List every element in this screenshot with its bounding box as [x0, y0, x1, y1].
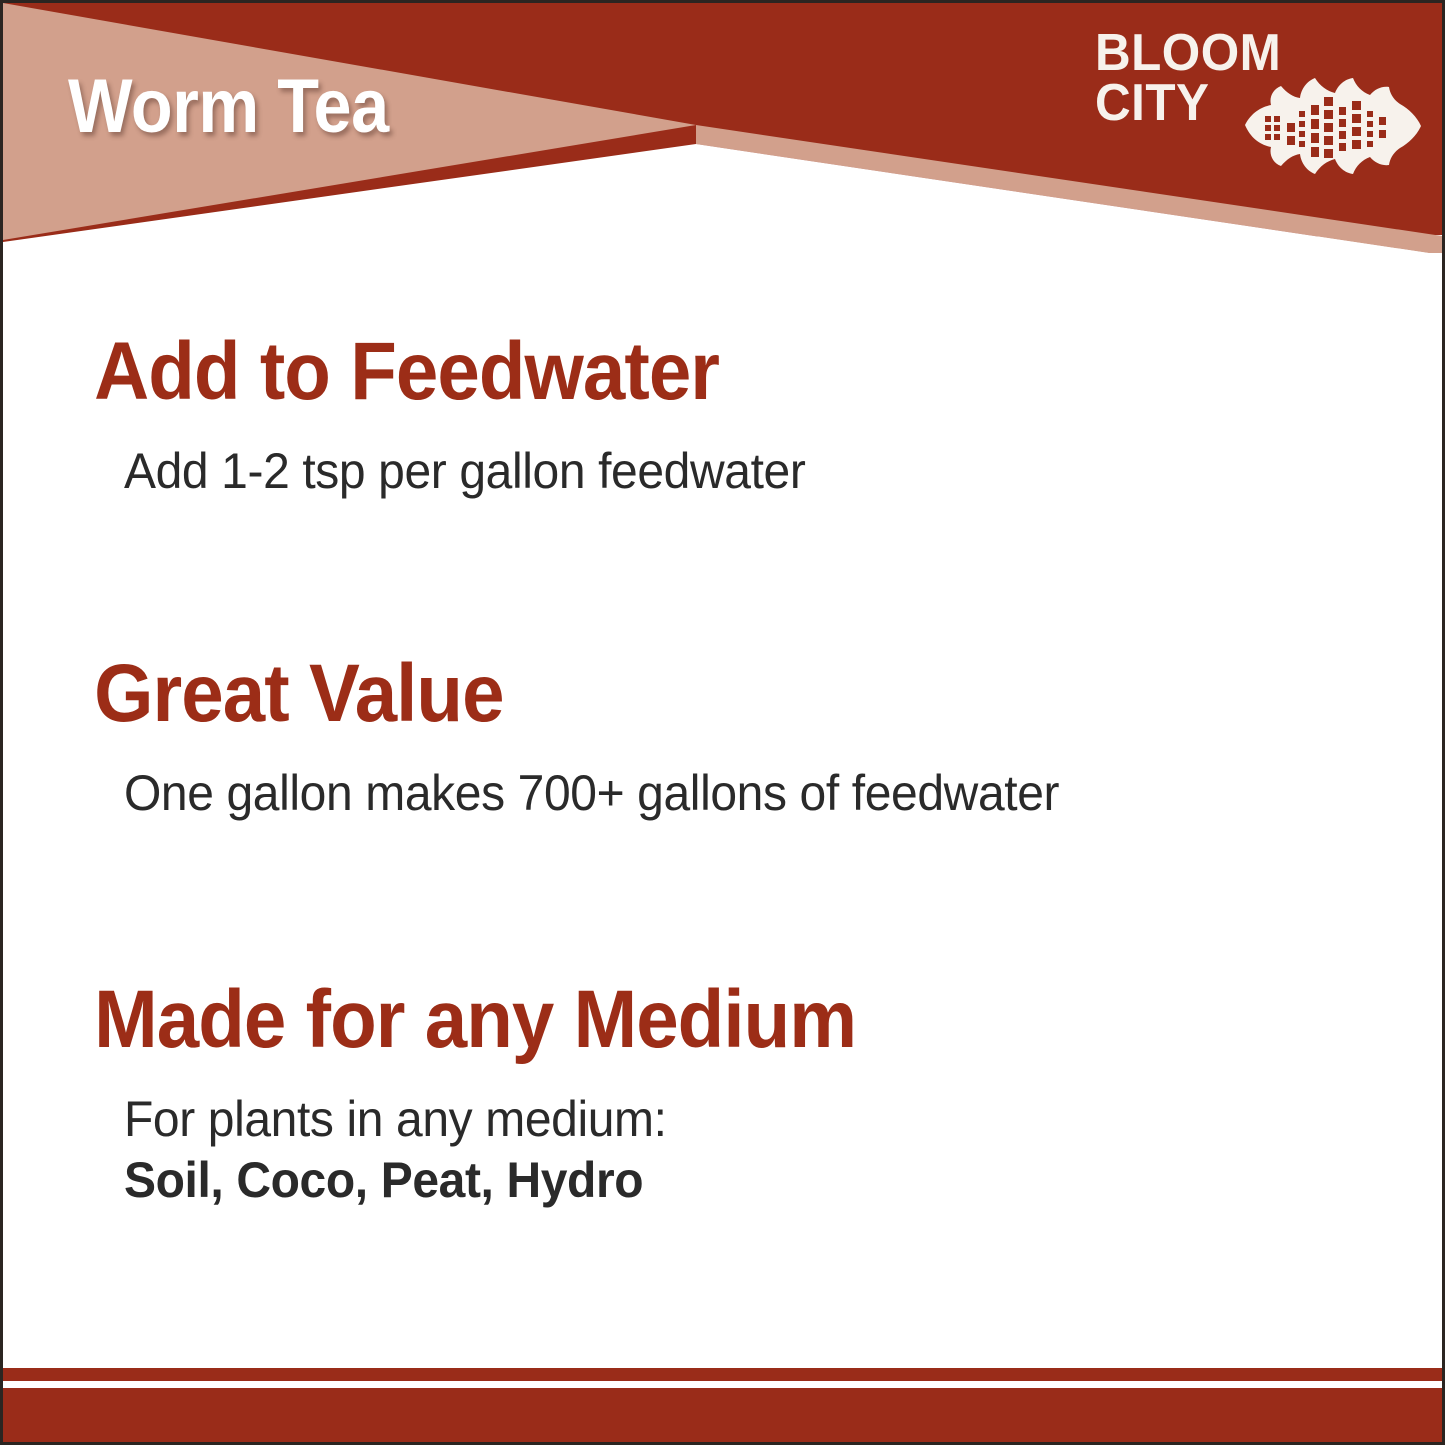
feature-body: Add 1-2 tsp per gallon feedwater	[3, 413, 1384, 502]
feature-heading: Made for any Medium	[3, 979, 1341, 1061]
feature-body-line: For plants in any medium:	[124, 1089, 1384, 1150]
feature-body-line: One gallon makes 700+ gallons of feedwat…	[124, 763, 1384, 824]
feature-heading: Add to Feedwater	[3, 331, 1341, 413]
brand-logo: BLOOM CITY	[1095, 29, 1425, 189]
footer-divider-rule	[3, 1368, 1442, 1381]
feature-body-line: Add 1-2 tsp per gallon feedwater	[124, 441, 1384, 502]
page-title: Worm Tea	[68, 69, 389, 145]
product-infographic: Worm Tea BLOOM CITY	[0, 0, 1445, 1445]
feature-block: Add to Feedwater Add 1-2 tsp per gallon …	[3, 331, 1442, 502]
header-banner: Worm Tea BLOOM CITY	[3, 3, 1442, 253]
feature-heading: Great Value	[3, 653, 1341, 735]
feature-list: Add to Feedwater Add 1-2 tsp per gallon …	[3, 253, 1442, 1363]
feature-body-line-emphasis: Soil, Coco, Peat, Hydro	[124, 1150, 1384, 1211]
leaf-cityscape-icon	[1243, 67, 1423, 185]
feature-block: Made for any Medium For plants in any me…	[3, 979, 1442, 1211]
feature-block: Great Value One gallon makes 700+ gallon…	[3, 653, 1442, 824]
feature-body: One gallon makes 700+ gallons of feedwat…	[3, 735, 1384, 824]
feature-body: For plants in any medium: Soil, Coco, Pe…	[3, 1061, 1384, 1211]
footer-band	[3, 1388, 1442, 1442]
